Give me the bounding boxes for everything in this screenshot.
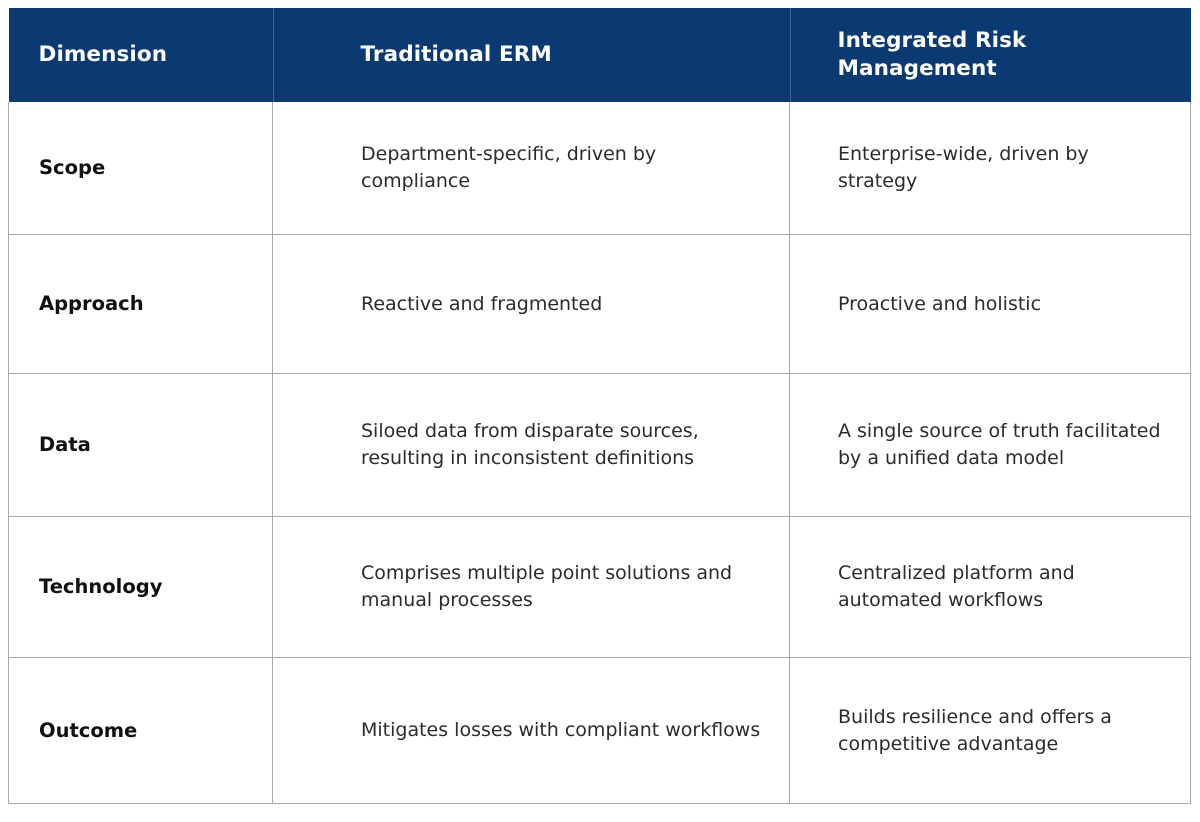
cell-dimension: Approach <box>9 235 273 374</box>
cell-integrated-risk-management: Proactive and holistic <box>790 235 1191 374</box>
cell-traditional-erm-text: Comprises multiple point solutions and m… <box>361 560 771 614</box>
column-header-dimension-label: Dimension <box>9 41 273 69</box>
cell-traditional-erm: Reactive and fragmented <box>273 235 790 374</box>
table-header: Dimension Traditional ERM Integrated Ris… <box>9 8 1191 102</box>
erm-comparison-table: Dimension Traditional ERM Integrated Ris… <box>8 8 1191 804</box>
cell-integrated-risk-management: A single source of truth facilitated by … <box>790 374 1191 517</box>
cell-dimension-text: Data <box>39 431 258 459</box>
cell-dimension: Outcome <box>9 658 273 804</box>
cell-integrated-risk-management-text: Proactive and holistic <box>838 291 1164 318</box>
cell-integrated-risk-management: Enterprise-wide, driven by strategy <box>790 102 1191 235</box>
cell-integrated-risk-management-text: Builds resilience and offers a competiti… <box>838 704 1164 758</box>
table-body: Scope Department-specific, driven by com… <box>9 102 1191 804</box>
cell-integrated-risk-management: Centralized platform and automated workf… <box>790 517 1191 658</box>
column-header-dimension: Dimension <box>9 8 273 102</box>
table-row: Technology Comprises multiple point solu… <box>9 517 1191 658</box>
column-header-traditional-erm: Traditional ERM <box>273 8 790 102</box>
column-header-integrated-risk-management: Integrated Risk Management <box>790 8 1191 102</box>
cell-integrated-risk-management-text: A single source of truth facilitated by … <box>838 418 1164 472</box>
cell-traditional-erm: Department-specific, driven by complianc… <box>273 102 790 235</box>
cell-dimension-text: Technology <box>39 573 258 601</box>
column-header-traditional-erm-label: Traditional ERM <box>273 41 790 69</box>
cell-integrated-risk-management: Builds resilience and offers a competiti… <box>790 658 1191 804</box>
column-header-integrated-risk-management-label: Integrated Risk Management <box>790 27 1191 83</box>
cell-integrated-risk-management-text: Enterprise-wide, driven by strategy <box>838 141 1164 195</box>
cell-traditional-erm-text: Reactive and fragmented <box>361 291 771 318</box>
cell-dimension-text: Approach <box>39 290 258 318</box>
page-root: Dimension Traditional ERM Integrated Ris… <box>0 0 1200 822</box>
table-row: Scope Department-specific, driven by com… <box>9 102 1191 235</box>
cell-traditional-erm: Comprises multiple point solutions and m… <box>273 517 790 658</box>
cell-dimension: Technology <box>9 517 273 658</box>
cell-dimension: Data <box>9 374 273 517</box>
cell-dimension-text: Scope <box>39 154 258 182</box>
table-row: Approach Reactive and fragmented Proacti… <box>9 235 1191 374</box>
table-row: Data Siloed data from disparate sources,… <box>9 374 1191 517</box>
cell-traditional-erm-text: Siloed data from disparate sources, resu… <box>361 418 771 472</box>
cell-traditional-erm: Siloed data from disparate sources, resu… <box>273 374 790 517</box>
table-header-row: Dimension Traditional ERM Integrated Ris… <box>9 8 1191 102</box>
cell-traditional-erm-text: Department-specific, driven by complianc… <box>361 141 771 195</box>
cell-dimension-text: Outcome <box>39 717 258 745</box>
cell-dimension: Scope <box>9 102 273 235</box>
cell-traditional-erm: Mitigates losses with compliant workflow… <box>273 658 790 804</box>
cell-traditional-erm-text: Mitigates losses with compliant workflow… <box>361 717 771 744</box>
cell-integrated-risk-management-text: Centralized platform and automated workf… <box>838 560 1164 614</box>
table-row: Outcome Mitigates losses with compliant … <box>9 658 1191 804</box>
